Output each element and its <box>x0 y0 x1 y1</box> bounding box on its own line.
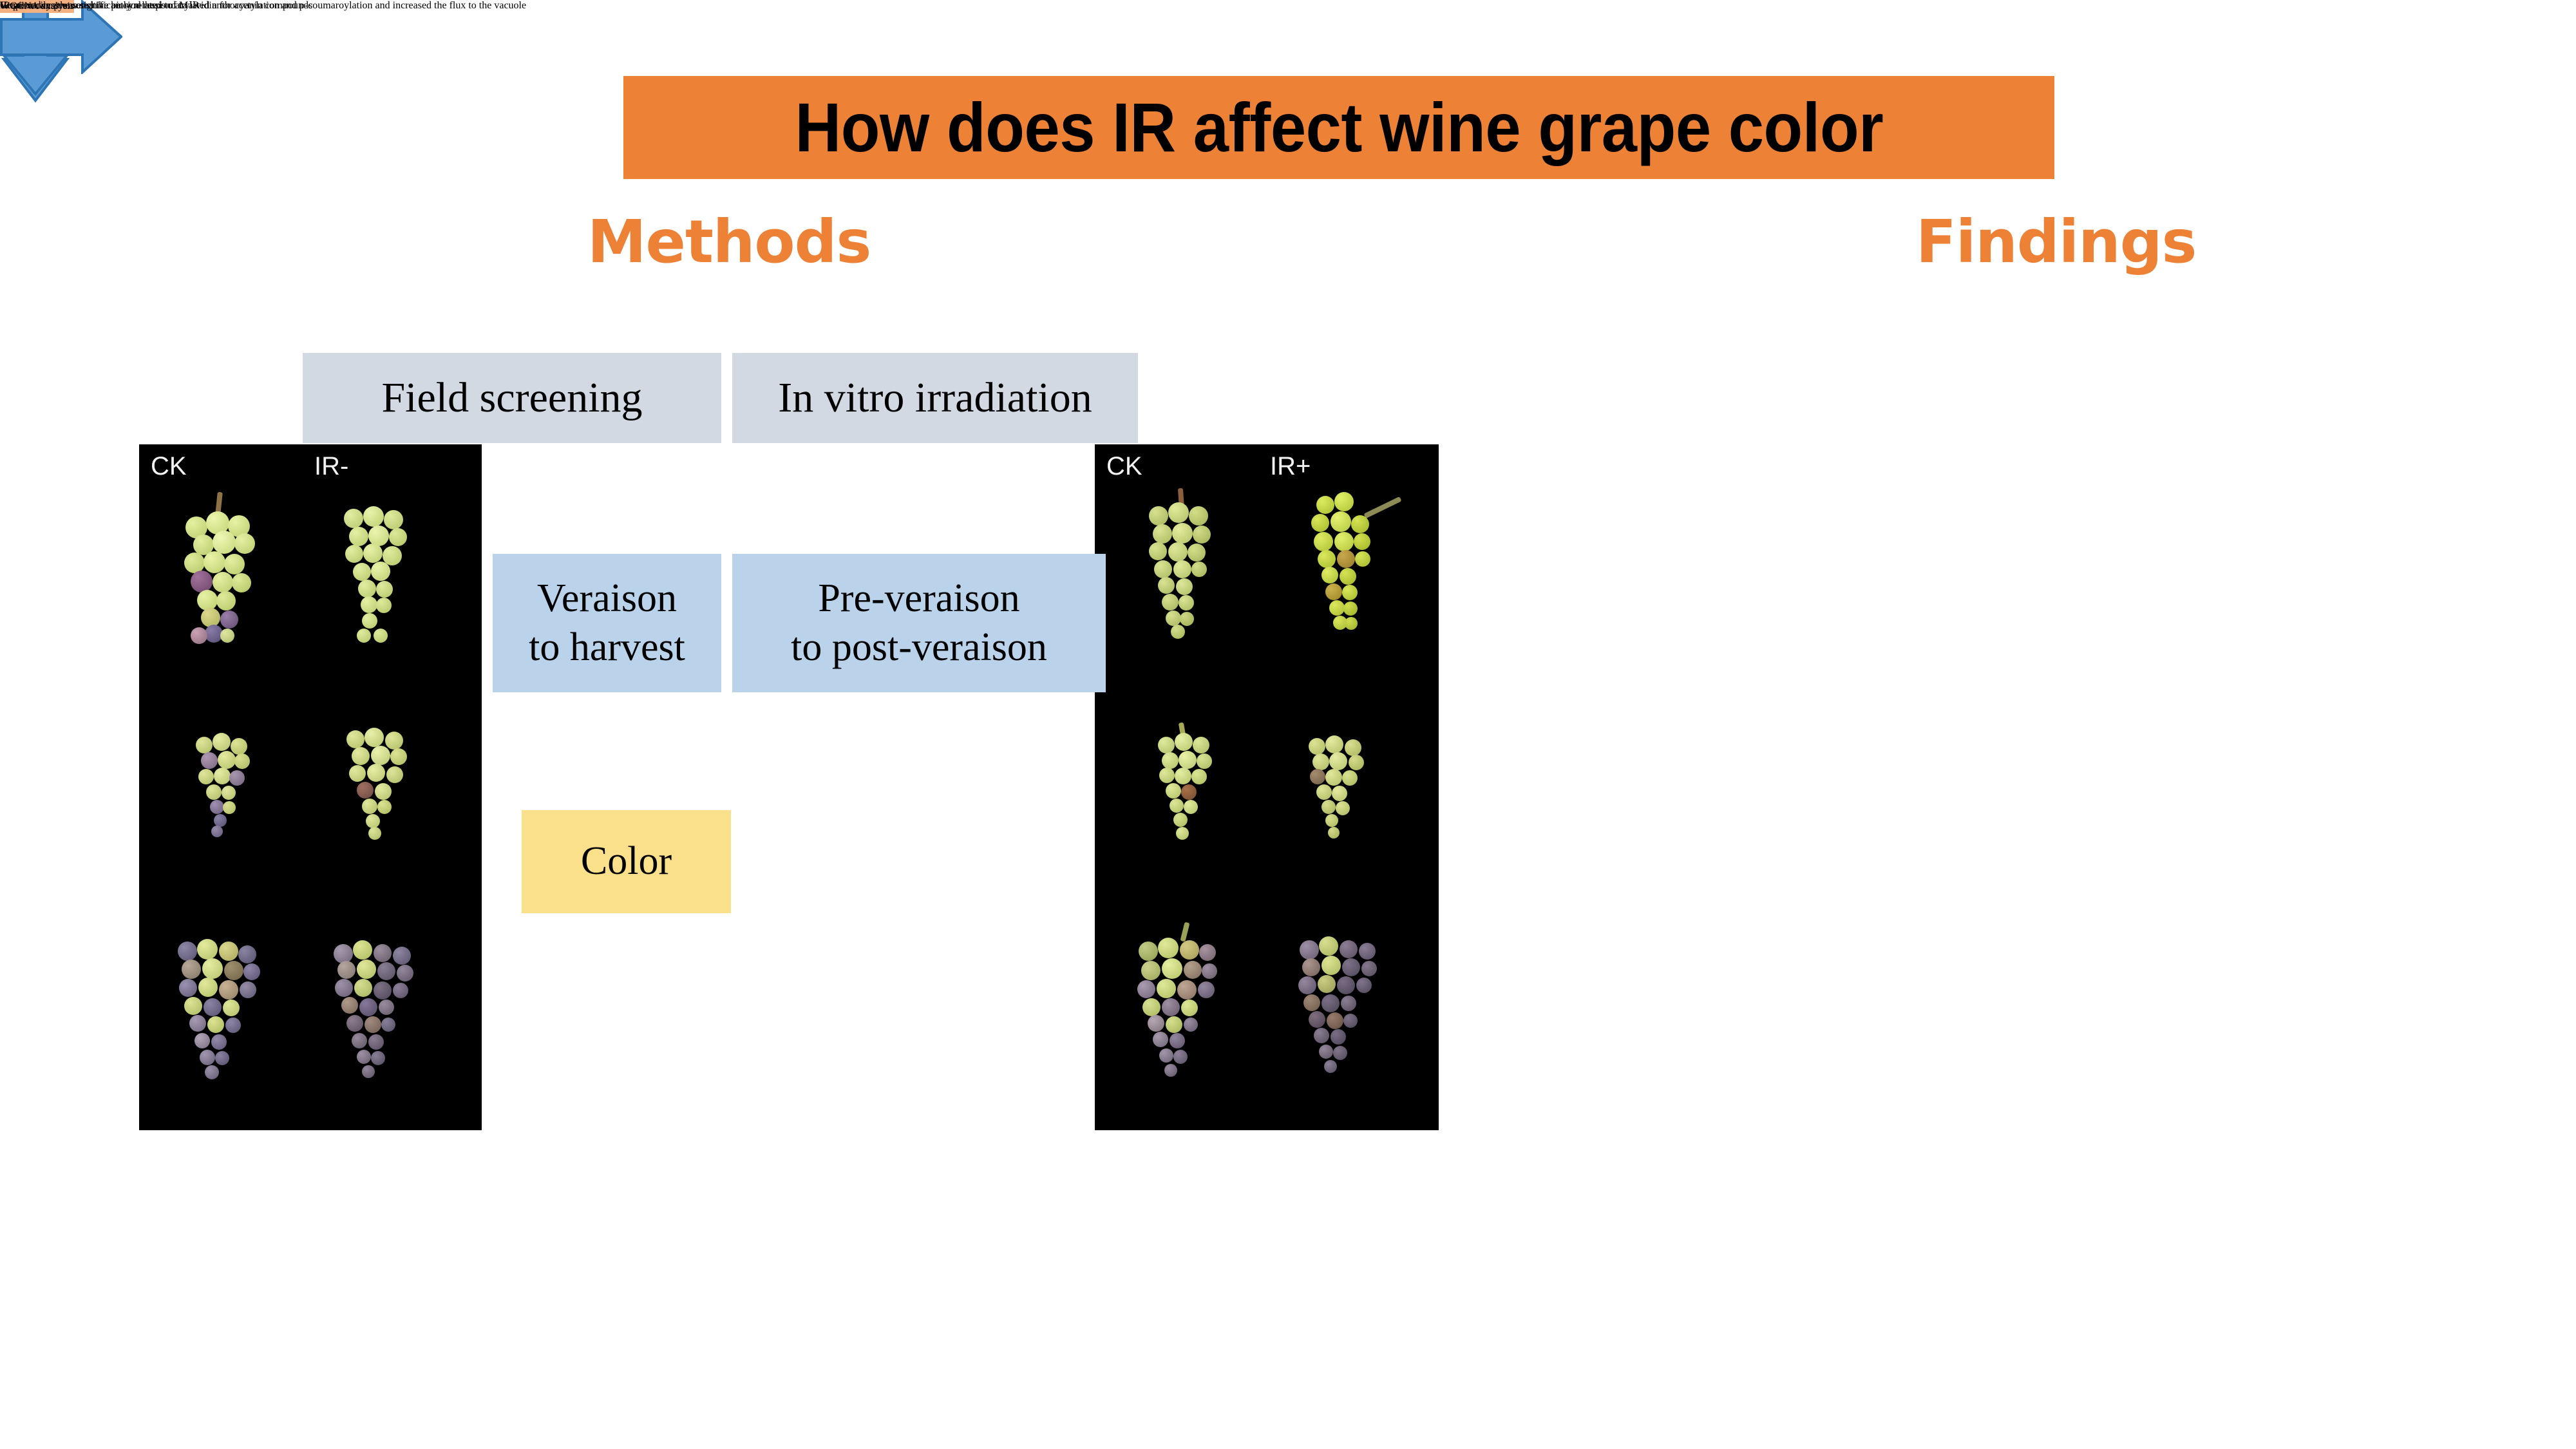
grape-cluster-ck-stage1 <box>179 497 261 652</box>
methods-heading: Methods <box>587 213 871 272</box>
grape-cluster-irplus-stage1 <box>1307 489 1386 638</box>
grape-cluster-irminus-stage2 <box>344 728 420 844</box>
findings-heading: Findings <box>1916 213 2196 272</box>
photo-label-ck-left: CK <box>151 453 187 479</box>
photo-panel-field-screening: CK IR- <box>139 444 482 1130</box>
method-box-pre-to-post-veraison[interactable]: Pre-veraison to post-veraison <box>732 554 1106 692</box>
photo-label-ir-minus: IR- <box>314 453 348 479</box>
photo-label-ck-right: CK <box>1106 453 1142 479</box>
photo-panel-in-vitro: CK IR+ <box>1095 444 1439 1130</box>
veraison-line1: Veraison <box>537 576 677 620</box>
arrow-right-icon <box>0 0 122 77</box>
title-banner: How does IR affect wine grape color <box>623 76 2054 179</box>
method-box-field-screening[interactable]: Field screening <box>303 353 721 443</box>
preveraison-line1: Pre-veraison <box>818 576 1019 620</box>
method-box-veraison-to-harvest[interactable]: Veraison to harvest <box>493 554 721 692</box>
grape-cluster-ck-plus-stage1 <box>1144 497 1220 640</box>
photo-label-ir-plus: IR+ <box>1270 453 1311 479</box>
method-box-color[interactable]: Color <box>522 810 731 913</box>
page-title: How does IR affect wine grape color <box>795 93 1883 162</box>
grape-cluster-ck-plus-stage2 <box>1154 733 1221 842</box>
grape-cluster-irminus-stage3 <box>330 940 420 1087</box>
preveraison-line2: to post-veraison <box>791 625 1047 669</box>
veraison-line2: to harvest <box>529 625 685 669</box>
grape-cluster-ck-plus-stage3 <box>1135 934 1225 1083</box>
grape-cluster-irplus-stage3 <box>1294 934 1385 1082</box>
method-box-in-vitro-irradiation[interactable]: In vitro irradiation <box>732 353 1138 443</box>
finding-box-ir-malvidin-biosynthesis: IR primarily promoted the biosyn-thesis … <box>0 0 526 12</box>
grape-cluster-irplus-stage2 <box>1305 735 1376 842</box>
grape-cluster-ck-stage3 <box>175 939 265 1087</box>
grape-cluster-irminus-stage1 <box>339 506 417 654</box>
grape-cluster-ck-stage2 <box>192 733 261 839</box>
